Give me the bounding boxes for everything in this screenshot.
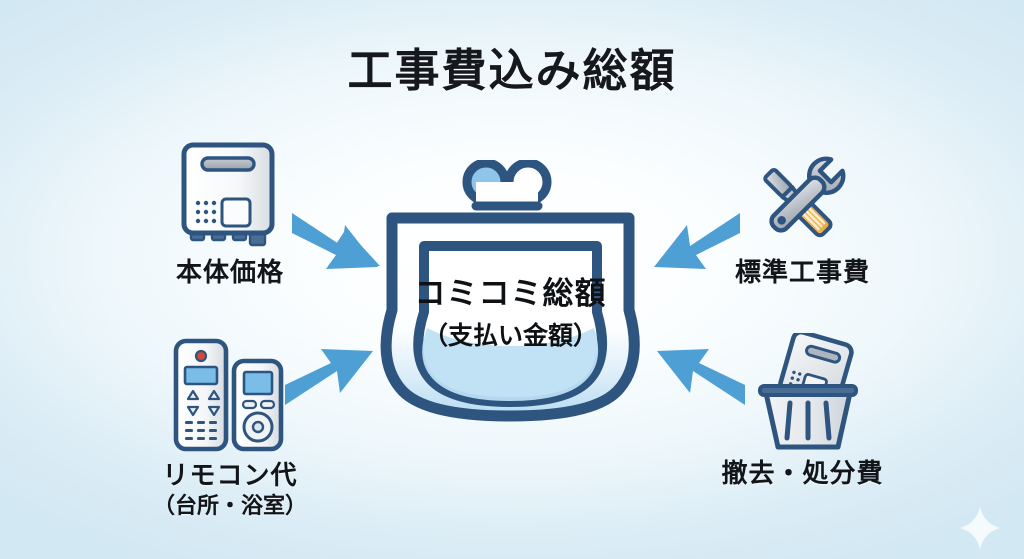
slide-canvas: 工事費込み総額	[0, 0, 1024, 559]
page-title: 工事費込み総額	[0, 46, 1024, 96]
label-tekkyo: 撤去・処分費	[700, 458, 905, 490]
label-remote: リモコン代 （台所・浴室）	[125, 460, 335, 520]
label-main: リモコン代	[125, 460, 335, 492]
remote-controls-icon	[168, 335, 298, 455]
label-sub: （台所・浴室）	[125, 493, 335, 520]
wrench-screwdriver-icon	[745, 140, 865, 255]
trash-can-with-heater-icon	[748, 333, 868, 453]
coin-purse-icon	[358, 160, 663, 430]
water-heater-icon	[170, 136, 290, 256]
label-main: 撤去・処分費	[700, 458, 905, 490]
sparkle-icon	[958, 504, 1002, 552]
